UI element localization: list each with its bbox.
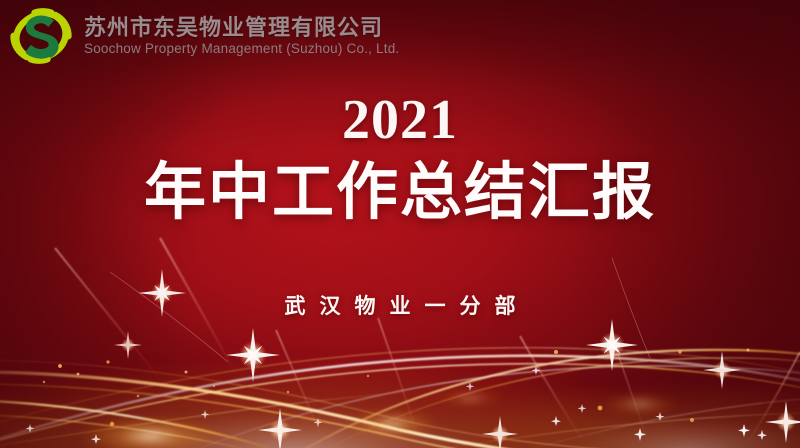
subtitle-department: 武汉物业一分部 (0, 290, 800, 320)
title-slide: 苏州市东吴物业管理有限公司 Soochow Property Managemen… (0, 0, 800, 448)
company-name-en: Soochow Property Management (Suzhou) Co.… (84, 41, 399, 57)
company-name-cn: 苏州市东吴物业管理有限公司 (84, 15, 399, 40)
company-name-block: 苏州市东吴物业管理有限公司 Soochow Property Managemen… (84, 15, 399, 57)
company-branding: 苏州市东吴物业管理有限公司 Soochow Property Managemen… (8, 5, 399, 67)
soochow-s-logo-icon (8, 5, 74, 67)
year-label: 2021 (0, 92, 800, 148)
page-title: 年中工作总结汇报 (0, 160, 800, 225)
logo-mark (8, 5, 74, 67)
hero-text-block: 2021 年中工作总结汇报 (0, 92, 800, 225)
